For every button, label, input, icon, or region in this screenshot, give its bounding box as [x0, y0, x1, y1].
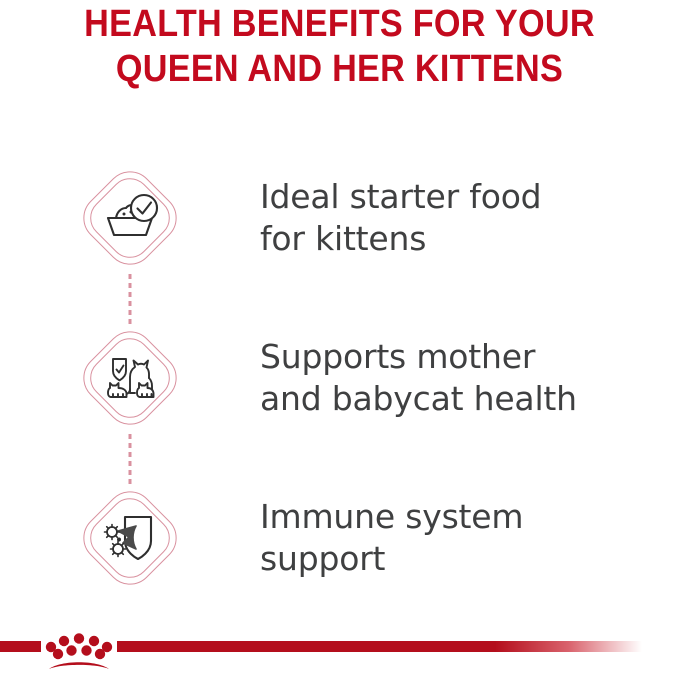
footer-bar-left: [0, 641, 41, 652]
benefit-item-starter-food: Ideal starter food for kittens: [0, 138, 679, 298]
benefit-item-mother-health: Supports mother and babycat health: [0, 298, 679, 458]
royal-canin-crown-logo: [43, 620, 115, 672]
benefit-item-immune-support: Immune system support: [0, 458, 679, 618]
benefit-text-cell-2: Supports mother and babycat health: [260, 336, 679, 420]
page-title-line-1: HEALTH BENEFITS FOR YOUR: [34, 2, 645, 47]
badge-shape-3: [74, 482, 186, 594]
benefit-text-cell-1: Ideal starter food for kittens: [260, 176, 679, 260]
benefits-list: Ideal starter food for kittens: [0, 138, 679, 618]
footer: [0, 620, 679, 676]
benefit-label-1: Ideal starter food for kittens: [260, 176, 661, 260]
shield-cat-kittens-icon: [99, 347, 161, 409]
benefit-badge-2: [0, 298, 260, 458]
health-benefits-page: HEALTH BENEFITS FOR YOUR QUEEN AND HER K…: [0, 0, 679, 676]
page-title: HEALTH BENEFITS FOR YOUR QUEEN AND HER K…: [0, 2, 679, 92]
badge-shape-2: [74, 322, 186, 434]
footer-bar-right: [117, 641, 642, 652]
benefit-label-2: Supports mother and babycat health: [260, 336, 661, 420]
shield-germs-icon: [99, 507, 161, 569]
benefit-badge-1: [0, 138, 260, 298]
page-title-line-2: QUEEN AND HER KITTENS: [34, 47, 645, 92]
benefit-text-cell-3: Immune system support: [260, 496, 679, 580]
food-bowl-check-icon: [99, 187, 161, 249]
badge-shape-1: [74, 162, 186, 274]
benefit-label-3: Immune system support: [260, 496, 661, 580]
benefit-badge-3: [0, 458, 260, 618]
